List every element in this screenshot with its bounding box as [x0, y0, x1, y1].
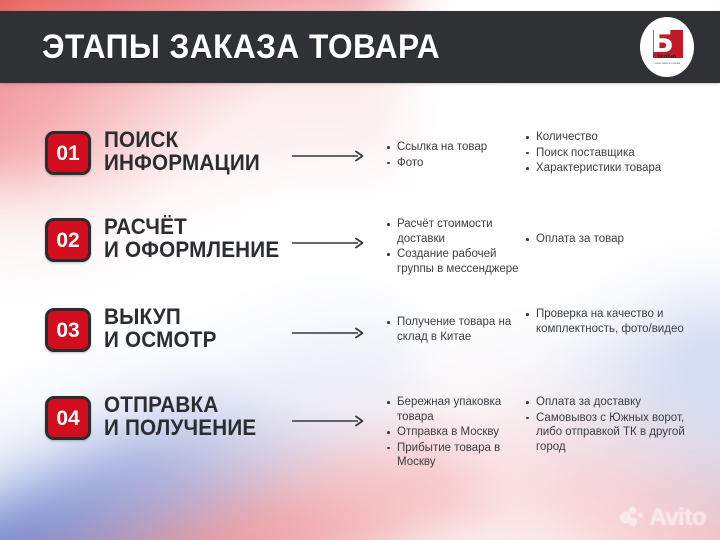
step-right-list-01: Количество Поиск поставщика Характеристи… [525, 130, 710, 177]
list-item: Проверка на качество и комплектность, фо… [525, 307, 710, 336]
step-title-04: ОТПРАВКА И ПОЛУЧЕНИЕ [104, 393, 256, 439]
step-right-list-04: Оплата за доставку Самовывоз с Южных вор… [525, 395, 710, 455]
step-middle-list-04: Бережная упаковка товара Отправка в Моск… [386, 395, 526, 471]
arrow-right-icon-04 [292, 415, 368, 427]
list-item: Создание рабочей группы в мессенджере [386, 247, 526, 276]
list-item: Оплата за товар [525, 232, 710, 247]
list-item: Фото [386, 156, 526, 171]
list-item: Самовывоз с Южных ворот, либо отправкой … [525, 411, 710, 455]
list-item: Характеристики товара [525, 161, 710, 176]
step-title-line1-02: РАСЧЁТ [104, 215, 279, 238]
list-item: Расчёт стоимости доставки [386, 217, 526, 246]
step-heading-01: 01 ПОИСК ИНФОРМАЦИИ [45, 128, 270, 175]
step-middle-list-01: Ссылка на товар Фото [386, 140, 526, 171]
step-number-badge-01: 01 [45, 131, 91, 175]
step-title-line1-01: ПОИСК [104, 128, 260, 151]
header-bar: ЭТАПЫ ЗАКАЗА ТОВАРА Б bertrab логистика … [0, 11, 720, 83]
step-title-line2-01: ИНФОРМАЦИИ [104, 151, 260, 174]
list-item: Получение товара на склад в Китае [386, 315, 526, 344]
step-title-line1-03: ВЫКУП [104, 305, 217, 328]
page-title: ЭТАПЫ ЗАКАЗА ТОВАРА [42, 30, 440, 64]
step-right-list-03: Проверка на качество и комплектность, фо… [525, 307, 710, 337]
company-logo: Б bertrab логистика из китая [640, 17, 694, 77]
avito-watermark-text: Avito [649, 506, 706, 530]
step-title-02: РАСЧЁТ И ОФОРМЛЕНИЕ [104, 215, 279, 261]
step-title-line2-02: И ОФОРМЛЕНИЕ [104, 238, 279, 261]
avito-watermark: Avito [620, 506, 706, 530]
list-item: Оплата за доставку [525, 395, 710, 410]
steps-list: 01 ПОИСК ИНФОРМАЦИИ Ссылка на товар Фото… [0, 83, 720, 540]
step-number-badge-04: 04 [45, 396, 91, 440]
step-heading-04: 04 ОТПРАВКА И ПОЛУЧЕНИЕ [45, 393, 266, 440]
list-item: Ссылка на товар [386, 140, 526, 155]
step-row-03: 03 ВЫКУП И ОСМОТР Получение товара на ск… [0, 305, 720, 393]
logo-brand-text: bertrab логистика из китая [648, 55, 686, 66]
step-title-03: ВЫКУП И ОСМОТР [104, 305, 217, 351]
step-title-line1-04: ОТПРАВКА [104, 393, 256, 416]
logo-brand-name: bertrab [658, 54, 677, 60]
list-item: Отправка в Москву [386, 425, 526, 440]
step-title-01: ПОИСК ИНФОРМАЦИИ [104, 128, 260, 174]
list-item: Прибытие товара в Москву [386, 441, 526, 470]
list-item: Бережная упаковка товара [386, 395, 526, 424]
step-number-badge-03: 03 [45, 308, 91, 352]
arrow-right-icon-01 [292, 150, 368, 162]
step-middle-list-03: Получение товара на склад в Китае [386, 315, 526, 345]
step-row-02: 02 РАСЧЁТ И ОФОРМЛЕНИЕ Расчёт стоимости … [0, 215, 720, 303]
infographic-canvas: ЭТАПЫ ЗАКАЗА ТОВАРА Б bertrab логистика … [0, 0, 720, 540]
step-number-badge-02: 02 [45, 218, 91, 262]
step-heading-03: 03 ВЫКУП И ОСМОТР [45, 305, 224, 352]
logo-tagline: логистика из китая [648, 61, 686, 67]
step-right-list-02: Оплата за товар [525, 232, 710, 248]
step-title-line2-04: И ПОЛУЧЕНИЕ [104, 416, 256, 439]
step-title-line2-03: И ОСМОТР [104, 328, 217, 351]
logo-mark: Б bertrab логистика из китая [647, 27, 687, 67]
list-item: Поиск поставщика [525, 146, 710, 161]
arrow-right-icon-03 [292, 327, 368, 339]
avito-dots-icon [620, 507, 646, 529]
step-row-01: 01 ПОИСК ИНФОРМАЦИИ Ссылка на товар Фото… [0, 128, 720, 216]
step-middle-list-02: Расчёт стоимости доставки Создание рабоч… [386, 217, 526, 277]
step-row-04: 04 ОТПРАВКА И ПОЛУЧЕНИЕ Бережная упаковк… [0, 393, 720, 497]
list-item: Количество [525, 130, 710, 145]
arrow-right-icon-02 [292, 237, 368, 249]
step-heading-02: 02 РАСЧЁТ И ОФОРМЛЕНИЕ [45, 215, 291, 262]
